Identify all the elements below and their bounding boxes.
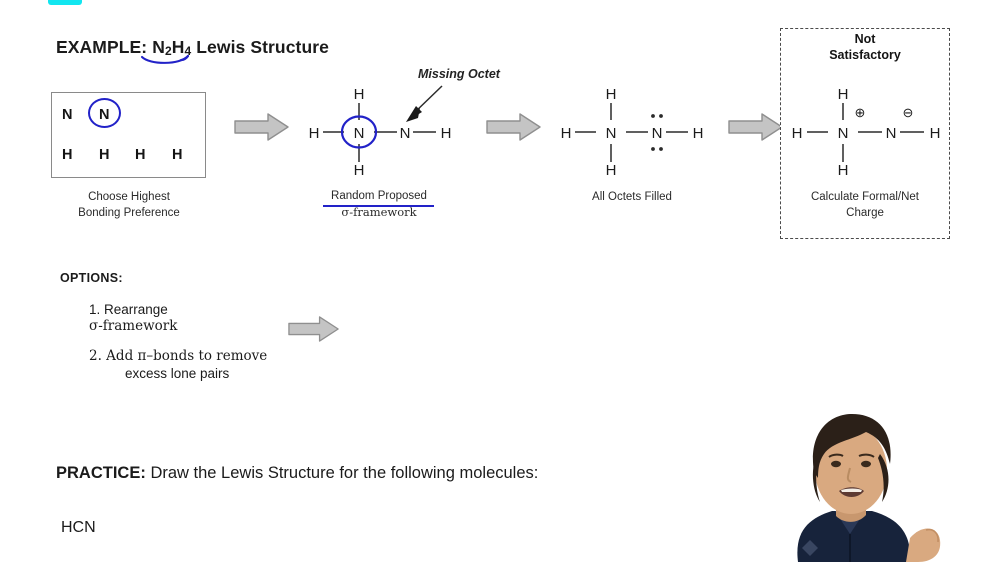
option-2-line2: excess lone pairs [89, 365, 267, 382]
panel-title-line2: Satisfactory [780, 47, 950, 63]
missing-octet-annotation: Missing Octet [418, 67, 500, 81]
formal-charge-negative: ⊖ [903, 105, 914, 120]
formal-charge-positive: ⊕ [855, 105, 866, 120]
atom-h-bottom: H [838, 162, 849, 179]
blue-circle-highlight-icon [88, 98, 121, 128]
practice-label: PRACTICE: [56, 464, 146, 482]
blue-underline-step-2 [323, 205, 434, 207]
block-arrow-right-icon-3 [728, 112, 784, 142]
atom-h-bottom: H [354, 162, 365, 179]
option-1-line2: σ-framework [89, 318, 177, 335]
option-item-2: 2. Add π–bonds to remove excess lone pai… [89, 348, 267, 382]
panel-title: Not Satisfactory [780, 31, 950, 63]
lone-pair-dot-top-1 [651, 114, 655, 118]
option-item-1: 1. Rearrange σ-framework [89, 301, 177, 335]
atom-h-top: H [838, 86, 849, 103]
atom-h-top: H [354, 86, 365, 103]
block-arrow-right-icon-4 [288, 315, 340, 343]
block-arrow-right-icon-2 [486, 112, 542, 142]
lone-pair-dot-bottom-1 [651, 147, 655, 151]
step-4-caption: Calculate Formal/Net Charge [780, 189, 950, 221]
atom-h-right: H [930, 125, 941, 142]
step-1-caption: Choose Highest Bonding Preference [51, 189, 207, 221]
step-3-caption-line1: All Octets Filled [552, 189, 712, 205]
lewis-structure-step-4: N N H H H H ⊕ ⊖ [786, 78, 946, 182]
atom-h-1: H [62, 147, 72, 163]
atom-left-n: N [838, 125, 849, 142]
annotation-arrow-icon [398, 82, 446, 126]
option-2-line1: 2. Add π–bonds to remove [89, 348, 267, 365]
atom-h-right: H [441, 125, 452, 142]
blue-squiggle-underline-icon [140, 53, 192, 69]
step-1-caption-line1: Choose Highest [51, 189, 207, 205]
practice-text: Draw the Lewis Structure for the followi… [150, 464, 538, 482]
top-cyan-marker [48, 0, 82, 5]
atom-h-3: H [135, 147, 145, 163]
atom-h-left: H [561, 125, 572, 142]
atom-h-left: H [309, 125, 320, 142]
lewis-structure-step-3: N N H H H H [552, 78, 712, 182]
atom-h-4: H [172, 147, 182, 163]
example-label: EXAMPLE: [56, 37, 147, 57]
atom-right-n: N [652, 125, 663, 142]
step-4-caption-line2: Charge [780, 205, 950, 221]
atom-left-n: N [606, 125, 617, 142]
option-1-line1: 1. Rearrange [89, 301, 177, 318]
atom-h-2: H [99, 147, 109, 163]
atom-n-1: N [62, 107, 72, 123]
page-title: EXAMPLE: N2H4 Lewis Structure [56, 37, 329, 58]
practice-molecule: HCN [61, 519, 96, 537]
practice-prompt: PRACTICE: Draw the Lewis Structure for t… [56, 464, 538, 483]
atom-h-bottom: H [606, 162, 617, 179]
example-suffix: Lewis Structure [196, 37, 329, 57]
presenter-video [740, 398, 1000, 562]
atom-h-right: H [693, 125, 704, 142]
atom-h-left: H [792, 125, 803, 142]
atom-left-n: N [354, 125, 365, 142]
lone-pair-dot-bottom-2 [659, 147, 663, 151]
atom-right-n: N [400, 125, 411, 142]
step-4-caption-line1: Calculate Formal/Net [780, 189, 950, 205]
atom-right-n: N [886, 125, 897, 142]
step-2-caption: Random Proposed σ-framework [300, 188, 458, 220]
lone-pair-dot-top-2 [659, 114, 663, 118]
step-1-caption-line2: Bonding Preference [51, 205, 207, 221]
block-arrow-right-icon-1 [234, 112, 290, 142]
panel-title-line1: Not [780, 31, 950, 47]
step-2-caption-line1: Random Proposed [300, 188, 458, 204]
step-3-caption: All Octets Filled [552, 189, 712, 205]
options-title: OPTIONS: [60, 271, 123, 285]
atom-inventory-box [51, 92, 206, 178]
atom-h-top: H [606, 86, 617, 103]
slide-canvas: EXAMPLE: N2H4 Lewis Structure N N H H H … [0, 0, 1000, 562]
